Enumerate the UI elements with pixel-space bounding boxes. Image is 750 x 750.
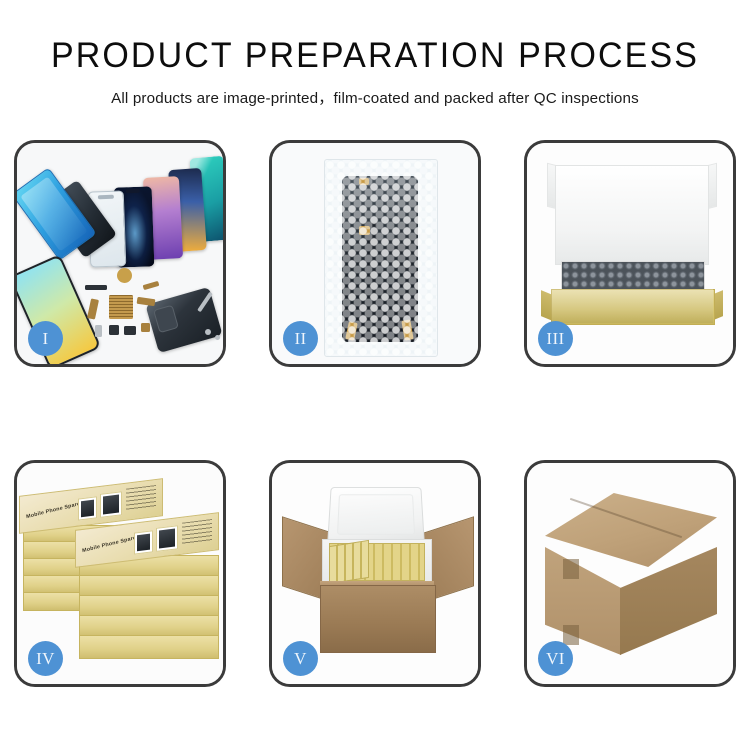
part-speaker-coil: [117, 268, 132, 283]
carton-tape-lower: [563, 625, 579, 645]
step-badge-3: III: [538, 321, 573, 356]
process-step-grid: I II: [14, 140, 736, 687]
step-4-illustration: Mobile Phone Spare Parts Mobile Phone Sp…: [17, 463, 223, 684]
step-badge-5: V: [283, 641, 318, 676]
process-step-panel-5[interactable]: V: [269, 460, 481, 687]
box-white-lid: [555, 165, 709, 265]
step-badge-4: IV: [28, 641, 63, 676]
box-label-window-3: [78, 496, 97, 520]
box-label-specs-back: [126, 485, 156, 511]
part-screw-2: [215, 335, 220, 340]
part-earpiece-mesh: [85, 285, 107, 290]
step-2-illustration: II: [272, 143, 478, 364]
step-6-illustration: VI: [527, 463, 733, 684]
carton-tape-upper: [563, 559, 579, 579]
carton-body: [320, 585, 436, 653]
bubble-wrap-bag: [324, 159, 438, 357]
page-title: PRODUCT PREPARATION PROCESS: [11, 38, 739, 75]
page-header: PRODUCT PREPARATION PROCESS All products…: [0, 38, 750, 108]
process-step-panel-4[interactable]: Mobile Phone Spare Parts Mobile Phone Sp…: [14, 460, 226, 687]
part-sim-tray: [95, 325, 102, 337]
step-badge-1: I: [28, 321, 63, 356]
stacked-box-r4: [79, 615, 219, 637]
part-screw: [205, 329, 211, 335]
process-step-panel-6[interactable]: VI: [524, 460, 736, 687]
part-connector-pad: [141, 323, 150, 332]
process-step-panel-3[interactable]: III: [524, 140, 736, 367]
step-5-illustration: V: [272, 463, 478, 684]
step-badge-6: VI: [538, 641, 573, 676]
box-label-window-2: [156, 525, 178, 552]
packed-yellow-boxes-angled: [329, 540, 369, 584]
kraft-box-front-face: [551, 289, 713, 323]
part-vibration-motor: [124, 326, 136, 335]
product-preparation-page: PRODUCT PREPARATION PROCESS All products…: [0, 0, 750, 750]
part-logic-board: [109, 295, 133, 319]
box-label-window-1: [134, 530, 153, 554]
process-step-panel-1[interactable]: I: [14, 140, 226, 367]
foam-lid: [327, 487, 425, 543]
step-1-illustration: I: [17, 143, 223, 364]
part-camera-module: [109, 325, 119, 335]
bubble-texture-overlay: [325, 160, 437, 356]
stacked-box-r3: [79, 595, 219, 617]
stacked-box-r2: [79, 575, 219, 597]
box-label-specs-front: [182, 519, 212, 545]
page-subtitle: All products are image-printed，film-coat…: [0, 86, 750, 108]
process-step-panel-2[interactable]: II: [269, 140, 481, 367]
box-label-window-4: [100, 491, 122, 518]
stacked-box-r5: [79, 635, 219, 659]
step-3-illustration: III: [527, 143, 733, 364]
step-badge-2: II: [283, 321, 318, 356]
